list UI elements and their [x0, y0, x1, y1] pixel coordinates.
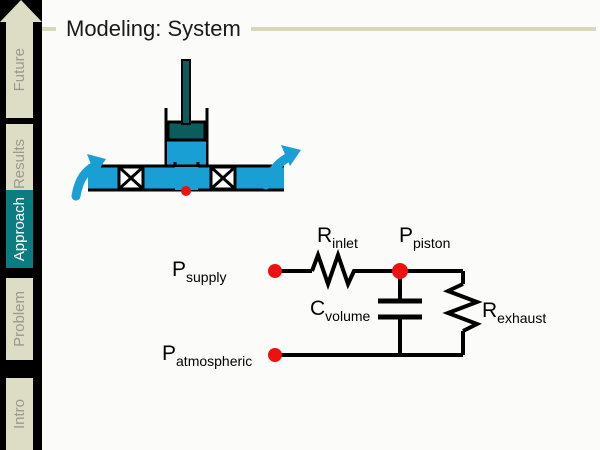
valve-diagram-svg	[70, 55, 320, 205]
label-p-atmospheric-base: P	[162, 342, 176, 365]
sidebar-item-intro[interactable]: Intro	[6, 378, 33, 450]
label-c-volume: Cvolume	[310, 297, 371, 324]
slide-canvas: Future Results Approach Problem Intro Mo…	[0, 0, 600, 450]
title-rule-left	[42, 27, 56, 31]
resistor-inlet-symbol	[312, 255, 400, 284]
label-r-exhaust-base: R	[482, 299, 497, 322]
inlet-port-cross-icon	[119, 167, 143, 189]
label-p-supply-sub: supply	[186, 269, 226, 285]
sidebar-item-label: Results	[11, 139, 28, 189]
nav-arrow-head-icon	[0, 0, 42, 22]
circuit-diagram: Psupply Patmospheric Rinlet Ppiston Cvol…	[160, 222, 560, 377]
slide-title-row: Modeling: System	[42, 13, 600, 45]
label-r-inlet-sub: inlet	[332, 235, 358, 251]
label-p-piston-sub: piston	[413, 235, 450, 251]
label-c-volume-sub: volume	[325, 308, 370, 324]
page-title: Modeling: System	[56, 18, 251, 40]
node-p-supply	[268, 264, 282, 278]
label-p-piston: Ppiston	[399, 224, 450, 251]
valve-diagram	[70, 55, 320, 205]
sidebar-nav-rail: Future Results Approach Problem Intro	[0, 0, 42, 450]
label-r-exhaust-sub: exhaust	[497, 310, 546, 326]
label-r-exhaust: Rexhaust	[482, 299, 546, 326]
label-p-supply-base: P	[172, 258, 186, 281]
node-p-atmospheric	[268, 348, 282, 362]
sidebar-item-approach[interactable]: Approach	[6, 190, 33, 268]
label-r-inlet: Rinlet	[317, 224, 358, 251]
sidebar-item-future[interactable]: Future	[6, 22, 33, 118]
resistor-exhaust-symbol	[448, 284, 477, 331]
sidebar-item-problem[interactable]: Problem	[6, 278, 33, 360]
sidebar-item-label: Approach	[11, 197, 28, 261]
title-rule-right	[251, 27, 596, 31]
sidebar-item-label: Intro	[11, 399, 28, 429]
label-p-supply: Psupply	[172, 258, 226, 285]
piston-rod	[182, 60, 190, 124]
cylinder-chamber-fill	[167, 139, 206, 166]
port-dot	[181, 186, 191, 196]
label-p-atmospheric: Patmospheric	[162, 342, 252, 369]
sidebar-item-label: Future	[11, 48, 28, 91]
label-c-volume-base: C	[310, 297, 325, 320]
label-p-piston-base: P	[399, 224, 413, 247]
node-p-piston	[392, 263, 408, 279]
label-p-atmospheric-sub: atmospheric	[176, 353, 252, 369]
circuit-diagram-svg: Psupply Patmospheric Rinlet Ppiston Cvol…	[160, 222, 560, 377]
sidebar-item-label: Problem	[11, 291, 28, 347]
outlet-port-cross-icon	[211, 167, 235, 189]
label-r-inlet-base: R	[317, 224, 332, 247]
